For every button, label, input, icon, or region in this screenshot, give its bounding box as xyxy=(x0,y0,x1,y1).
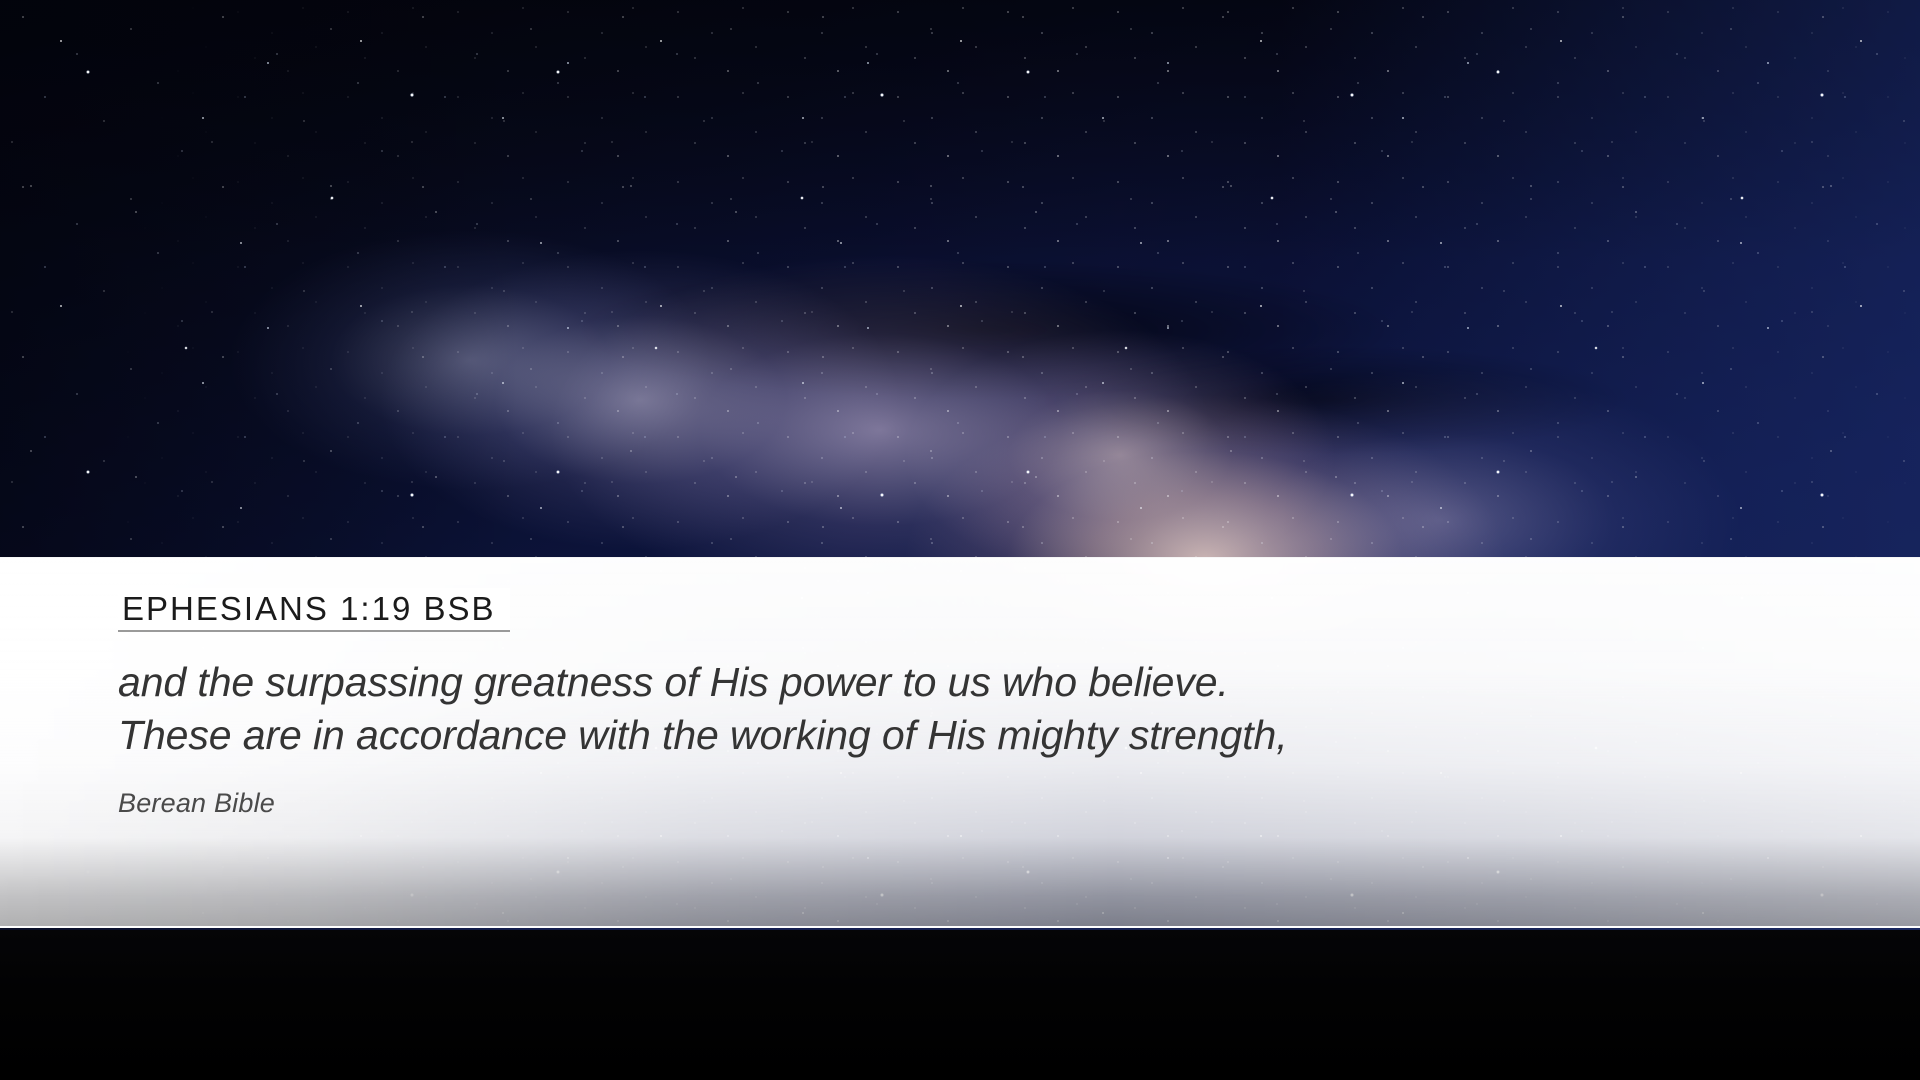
verse-line-1: and the surpassing greatness of His powe… xyxy=(118,656,1838,709)
verse-reference-box: EPHESIANS 1:19 BSB xyxy=(118,588,510,632)
verse-text-block: and the surpassing greatness of His powe… xyxy=(118,656,1838,763)
verse-reference: EPHESIANS 1:19 BSB xyxy=(122,592,496,627)
verse-attribution: Berean Bible xyxy=(118,788,1838,819)
wallpaper-canvas: EPHESIANS 1:19 BSB and the surpassing gr… xyxy=(0,0,1920,1080)
verse-overlay-panel: EPHESIANS 1:19 BSB and the surpassing gr… xyxy=(0,557,1920,928)
verse-line-2: These are in accordance with the working… xyxy=(118,709,1838,762)
bottom-black-bar xyxy=(0,930,1920,1080)
verse-card: EPHESIANS 1:19 BSB and the surpassing gr… xyxy=(118,588,1838,819)
